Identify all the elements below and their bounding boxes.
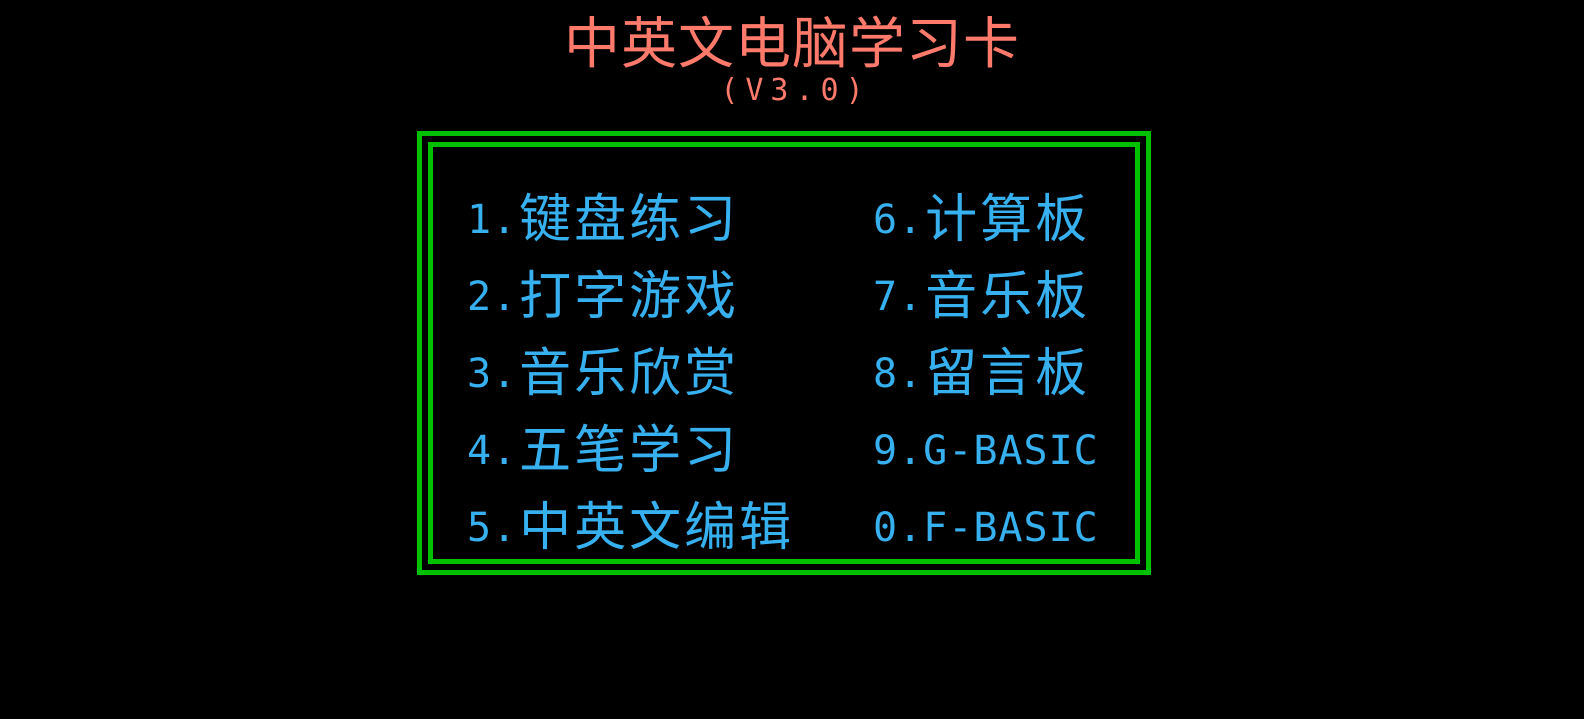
title-block: 中英文电脑学习卡 (V3.0) <box>0 0 1584 108</box>
menu-item-0[interactable]: 0.F-BASIC <box>873 489 1153 566</box>
menu-item-label: 留言板 <box>923 346 1090 402</box>
menu-item-label: 键盘练习 <box>517 192 739 248</box>
menu-item-5[interactable]: 5.中英文编辑 <box>467 489 867 566</box>
menu-item-9[interactable]: 9.G-BASIC <box>873 412 1153 489</box>
menu-item-1[interactable]: 1.键盘练习 <box>467 181 867 258</box>
menu-column-left: 1.键盘练习2.打字游戏3.音乐欣赏4.五笔学习5.中英文编辑 <box>467 181 867 566</box>
menu-item-4[interactable]: 4.五笔学习 <box>467 412 867 489</box>
menu-item-key: 7. <box>873 275 923 319</box>
menu-item-8[interactable]: 8.留言板 <box>873 335 1153 412</box>
menu-item-6[interactable]: 6.计算板 <box>873 181 1153 258</box>
menu-item-7[interactable]: 7.音乐板 <box>873 258 1153 335</box>
menu-item-key: 6. <box>873 198 923 242</box>
menu-frame-inner-border: 1.键盘练习2.打字游戏3.音乐欣赏4.五笔学习5.中英文编辑 6.计算板7.音… <box>428 142 1140 564</box>
menu-item-label: 计算板 <box>923 192 1090 248</box>
menu-grid: 1.键盘练习2.打字游戏3.音乐欣赏4.五笔学习5.中英文编辑 6.计算板7.音… <box>433 147 1135 559</box>
menu-item-key: 5. <box>467 506 517 550</box>
menu-item-key: 2. <box>467 275 517 319</box>
menu-item-label: F-BASIC <box>923 506 1099 550</box>
menu-item-key: 0. <box>873 506 923 550</box>
menu-item-label: 中英文编辑 <box>517 500 794 556</box>
menu-item-key: 8. <box>873 352 923 396</box>
menu-frame-outer-border: 1.键盘练习2.打字游戏3.音乐欣赏4.五笔学习5.中英文编辑 6.计算板7.音… <box>417 131 1151 575</box>
menu-item-label: 音乐板 <box>923 269 1090 325</box>
menu-item-key: 3. <box>467 352 517 396</box>
menu-item-key: 1. <box>467 198 517 242</box>
menu-item-3[interactable]: 3.音乐欣赏 <box>467 335 867 412</box>
version-label: (V3.0) <box>0 74 1584 108</box>
menu-item-key: 4. <box>467 429 517 473</box>
menu-item-label: G-BASIC <box>923 429 1099 473</box>
page-title: 中英文电脑学习卡 <box>0 0 1584 76</box>
menu-item-key: 9. <box>873 429 923 473</box>
menu-item-label: 打字游戏 <box>517 269 739 325</box>
menu-item-label: 音乐欣赏 <box>517 346 739 402</box>
retro-menu-screen: 中英文电脑学习卡 (V3.0) 1.键盘练习2.打字游戏3.音乐欣赏4.五笔学习… <box>0 0 1584 719</box>
menu-item-2[interactable]: 2.打字游戏 <box>467 258 867 335</box>
menu-item-label: 五笔学习 <box>517 423 739 479</box>
menu-column-right: 6.计算板7.音乐板8.留言板9.G-BASIC0.F-BASIC <box>873 181 1153 566</box>
